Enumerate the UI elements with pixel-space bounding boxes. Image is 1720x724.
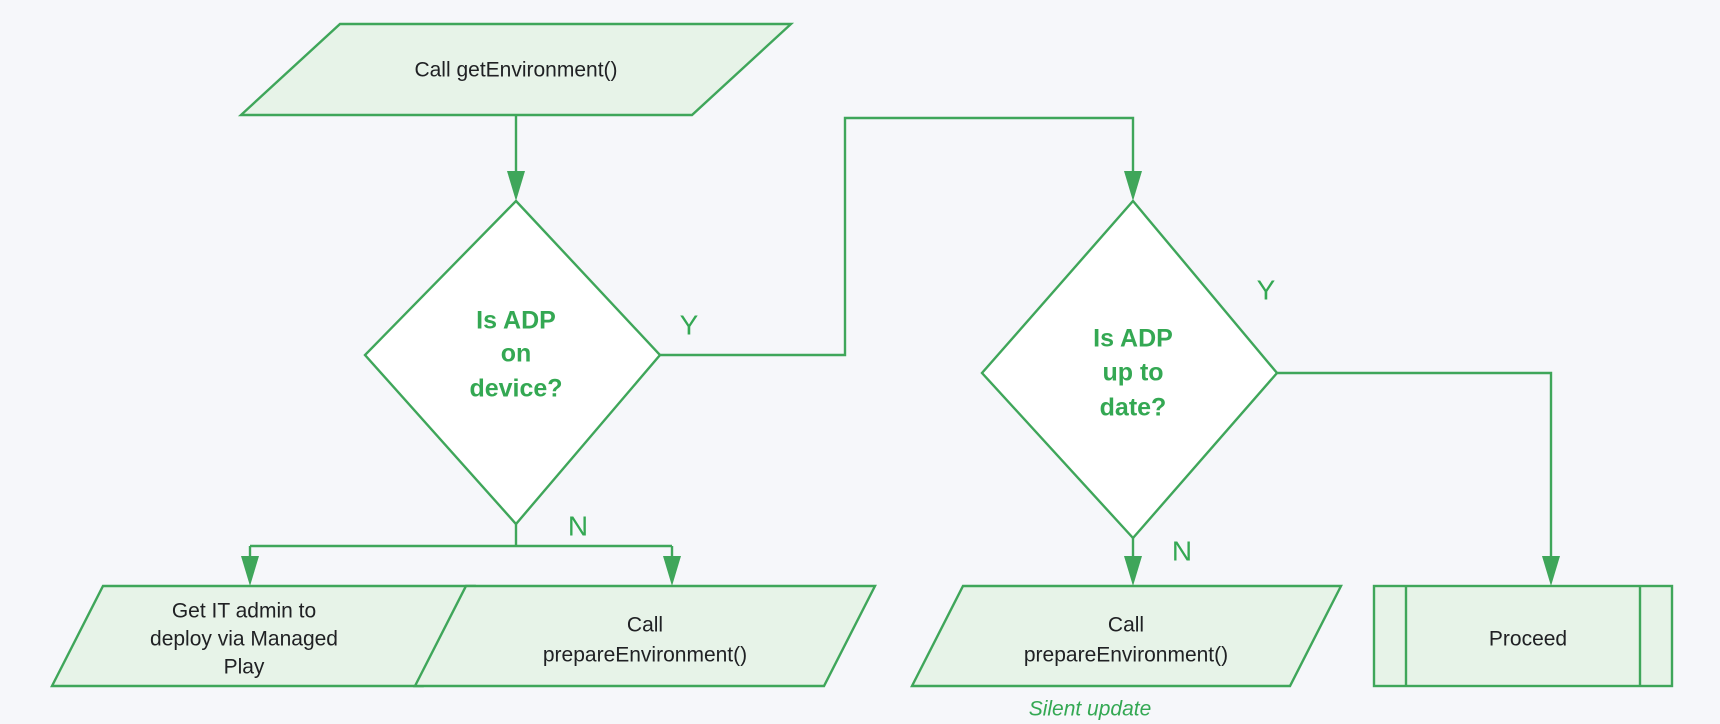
node-label-get-it-admin-line1: Get IT admin to	[172, 600, 316, 623]
node-label-prepare-right-line1: Call	[1108, 614, 1144, 637]
node-label-is-adp-up-to-date-line1: Is ADP	[1093, 325, 1173, 353]
node-label-is-adp-on-device-line1: Is ADP	[476, 307, 556, 335]
node-label-call-get-environment: Call getEnvironment()	[414, 59, 617, 82]
node-label-prepare-left-line2: prepareEnvironment()	[543, 644, 747, 667]
node-label-is-adp-up-to-date-line2: up to	[1102, 359, 1163, 387]
node-call-get-environment[interactable]: Call getEnvironment()	[241, 24, 791, 115]
node-label-is-adp-on-device-line2: on	[501, 340, 532, 368]
node-label-proceed: Proceed	[1489, 628, 1567, 651]
node-call-prepare-environment-right[interactable]: Call prepareEnvironment()	[912, 586, 1341, 686]
node-call-prepare-environment-left[interactable]: Call prepareEnvironment()	[415, 586, 875, 686]
annotation-silent-update: Silent update	[1029, 698, 1152, 721]
node-label-prepare-left-line1: Call	[627, 614, 663, 637]
branch-label-device-yes: Y	[680, 309, 699, 340]
node-layer: Call getEnvironment() Is ADP on device? …	[52, 24, 1672, 686]
node-label-get-it-admin-line3: Play	[224, 656, 265, 679]
edge-uptodate-yes-to-proceed	[1277, 373, 1560, 586]
node-is-adp-up-to-date[interactable]: Is ADP up to date?	[982, 201, 1277, 538]
branch-label-device-no: N	[568, 510, 588, 541]
node-get-it-admin-deploy[interactable]: Get IT admin to deploy via Managed Play	[52, 586, 474, 686]
flowchart-svg: Call getEnvironment() Is ADP on device? …	[0, 0, 1720, 724]
flowchart-canvas: Call getEnvironment() Is ADP on device? …	[0, 0, 1720, 724]
branch-label-uptodate-yes: Y	[1257, 274, 1276, 305]
branch-label-uptodate-no: N	[1172, 535, 1192, 566]
node-label-get-it-admin-line2: deploy via Managed	[150, 628, 338, 651]
node-label-is-adp-on-device-line3: device?	[469, 375, 562, 403]
node-label-is-adp-up-to-date-line3: date?	[1100, 394, 1167, 422]
node-is-adp-on-device[interactable]: Is ADP on device?	[365, 201, 660, 524]
edge-getenv-to-ondevice	[507, 115, 525, 201]
edge-ondevice-no-split	[241, 524, 681, 586]
node-label-prepare-right-line2: prepareEnvironment()	[1024, 644, 1228, 667]
node-proceed[interactable]: Proceed	[1374, 586, 1672, 686]
